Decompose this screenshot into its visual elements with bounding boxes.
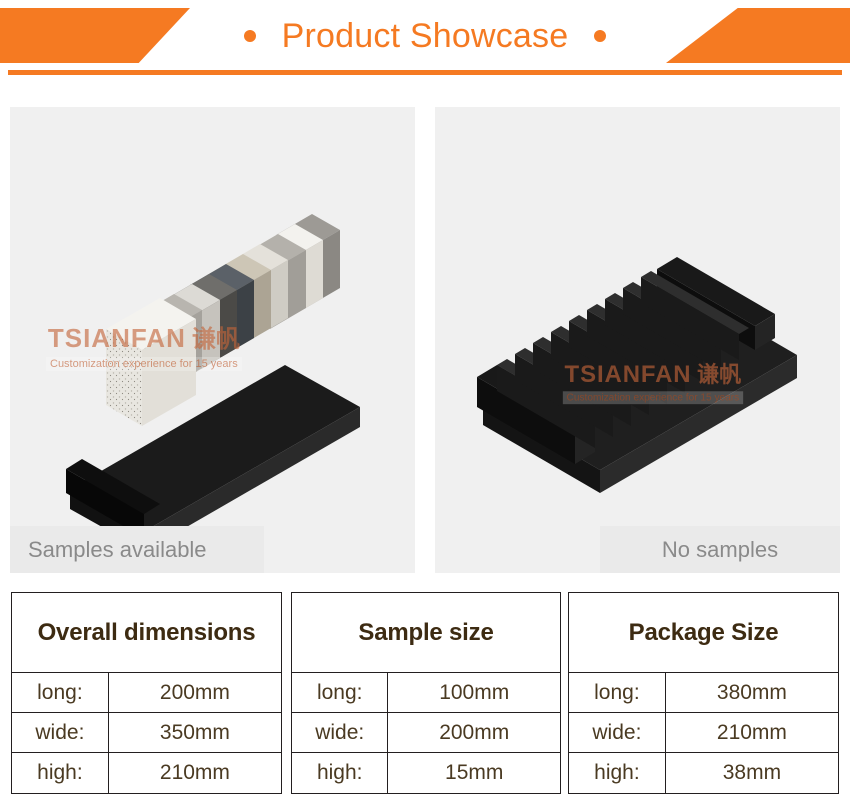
table-row: wide: 200mm — [292, 713, 560, 753]
header-title-group: Product Showcase — [0, 8, 850, 63]
table-row: wide: 210mm — [569, 713, 838, 753]
row-value: 210mm — [109, 753, 281, 793]
row-value: 210mm — [666, 713, 838, 752]
panel-no-samples[interactable]: TSIANFAN 谦帆 Customization experience for… — [435, 107, 840, 573]
table-row: high: 210mm — [12, 753, 281, 793]
specification-tables: Overall dimensions long: 200mm wide: 350… — [0, 592, 850, 795]
row-label: long: — [12, 673, 109, 712]
panel-caption-no-samples: No samples — [600, 526, 840, 573]
panel-caption-label: Samples available — [28, 537, 207, 563]
page-header: Product Showcase — [0, 0, 850, 80]
page-title: Product Showcase — [282, 19, 569, 53]
panel-caption-label: No samples — [662, 537, 778, 563]
bullet-dot-icon-right — [594, 30, 606, 42]
table-title: Sample size — [358, 619, 493, 647]
row-label: wide: — [569, 713, 666, 752]
row-label: high: — [292, 753, 388, 793]
table-header: Overall dimensions — [12, 593, 281, 673]
table-header: Sample size — [292, 593, 560, 673]
product-image-no-samples — [435, 107, 840, 573]
row-label: wide: — [12, 713, 109, 752]
row-value: 15mm — [388, 753, 560, 793]
row-value: 200mm — [109, 673, 281, 712]
table-title: Package Size — [629, 619, 779, 647]
row-value: 350mm — [109, 713, 281, 752]
table-row: long: 100mm — [292, 673, 560, 713]
header-underline-rule — [8, 70, 842, 75]
table-row: long: 380mm — [569, 673, 838, 713]
table-row: high: 38mm — [569, 753, 838, 793]
panel-caption-samples-available: Samples available — [10, 526, 264, 573]
showcase-panels: TSIANFAN 谦帆 Customization experience for… — [0, 107, 850, 573]
table-sample-size: Sample size long: 100mm wide: 200mm high… — [291, 592, 561, 794]
table-package-size: Package Size long: 380mm wide: 210mm hig… — [568, 592, 839, 794]
table-row: high: 15mm — [292, 753, 560, 793]
row-label: high: — [569, 753, 666, 793]
panel-samples-available[interactable]: TSIANFAN 谦帆 Customization experience for… — [10, 107, 415, 573]
row-label: wide: — [292, 713, 388, 752]
row-label: long: — [292, 673, 388, 712]
table-row: long: 200mm — [12, 673, 281, 713]
table-header: Package Size — [569, 593, 838, 673]
row-value: 380mm — [666, 673, 838, 712]
bullet-dot-icon-left — [244, 30, 256, 42]
table-row: wide: 350mm — [12, 713, 281, 753]
row-label: high: — [12, 753, 109, 793]
row-value: 38mm — [666, 753, 838, 793]
table-title: Overall dimensions — [38, 619, 256, 647]
product-showcase-page: Product Showcase — [0, 0, 850, 804]
row-label: long: — [569, 673, 666, 712]
product-image-samples-available — [10, 107, 415, 573]
row-value: 200mm — [388, 713, 560, 752]
row-value: 100mm — [388, 673, 560, 712]
table-overall-dimensions: Overall dimensions long: 200mm wide: 350… — [11, 592, 282, 794]
